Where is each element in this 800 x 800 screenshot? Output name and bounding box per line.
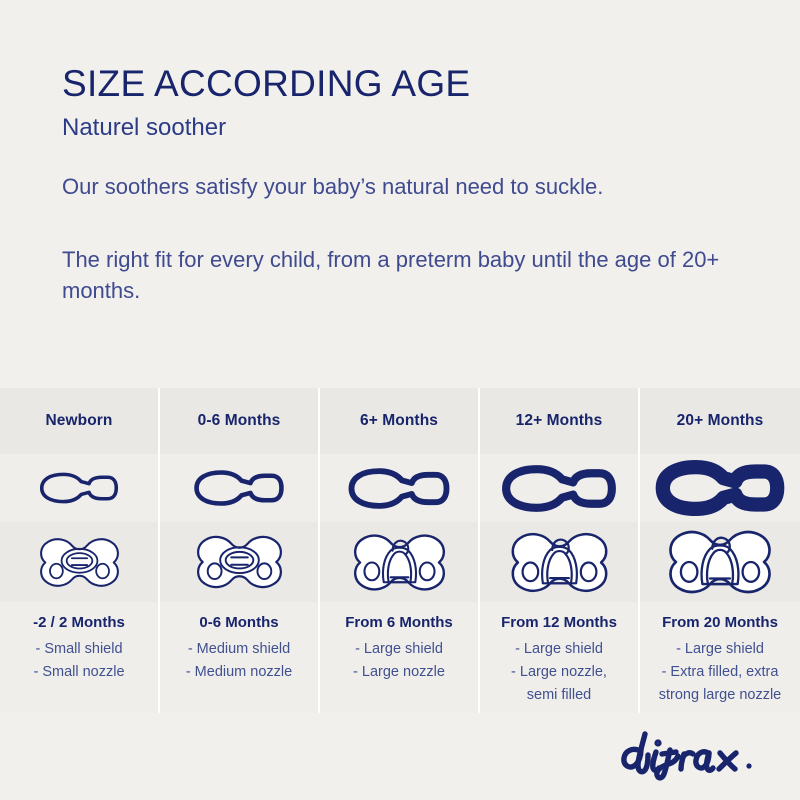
registered-mark-icon [746,763,751,768]
spec-line: semi filled [486,684,632,707]
soother-shield-icon [498,523,621,602]
spec-cell: From 6 Months- Large shield- Large nozzl… [320,602,478,713]
soother-nozzle-icon [190,464,288,512]
soother-shield-icon [29,530,130,595]
spec-line: - Large shield [326,638,472,661]
soother-shield-icon [341,525,458,600]
age-label: 0-6 Months [166,613,312,633]
size-column: Newborn -2 / 2 Months- Small shield- Sma… [0,388,160,713]
soother-shield-icon [185,527,294,597]
soother-nozzle-icon [654,456,786,520]
size-column: 6+ Months From 6 Months- Large shield- L… [320,388,480,713]
page-title: SIZE ACCORDING AGE [62,62,742,106]
spec-line: - Large nozzle, [486,661,632,684]
shield-cell [480,522,638,602]
intro-block: SIZE ACCORDING AGE Naturel soother Our s… [62,62,742,306]
soother-nozzle-icon [344,462,454,515]
nozzle-cell [480,454,638,522]
spec-line: - Extra filled, extra [646,661,794,684]
column-header: 6+ Months [320,388,478,454]
age-label: From 20 Months [646,613,794,633]
nozzle-cell [320,454,478,522]
column-header: 0-6 Months [160,388,318,454]
difrax-wordmark-icon [618,728,758,780]
column-header: 20+ Months [640,388,800,454]
spec-line: - Large shield [486,638,632,661]
spec-line: - Medium nozzle [166,661,312,684]
spec-cell: 0-6 Months- Medium shield- Medium nozzle [160,602,318,713]
age-label: -2 / 2 Months [6,613,152,633]
age-label: From 6 Months [326,613,472,633]
size-table: Newborn -2 / 2 Months- Small shield- Sma… [0,388,800,713]
spec-cell: From 20 Months- Large shield- Extra fill… [640,602,800,713]
nozzle-cell [160,454,318,522]
difrax-logo [618,728,758,780]
spec-line: - Small nozzle [6,661,152,684]
spec-line: - Large nozzle [326,661,472,684]
size-column: 20+ Months From 20 Months- Large shield-… [640,388,800,713]
page-subtitle: Naturel soother [62,113,742,143]
spec-line: strong large nozzle [646,684,794,707]
infographic-page: SIZE ACCORDING AGE Naturel soother Our s… [0,0,800,800]
shield-cell [0,522,158,602]
intro-paragraph-2: The right fit for every child, from a pr… [62,244,742,306]
size-column: 12+ Months From 12 Months- Large shield-… [480,388,640,713]
intro-paragraph-1: Our soothers satisfy your baby’s natural… [62,171,742,202]
spec-line: - Small shield [6,638,152,661]
column-header: 12+ Months [480,388,638,454]
size-column: 0-6 Months 0-6 Months- Medium shield- Me… [160,388,320,713]
nozzle-cell [0,454,158,522]
shield-cell [640,522,800,602]
soother-nozzle-icon [36,467,122,509]
shield-cell [320,522,478,602]
spec-line: - Medium shield [166,638,312,661]
age-label: From 12 Months [486,613,632,633]
spec-cell: -2 / 2 Months- Small shield- Small nozzl… [0,602,158,713]
shield-cell [160,522,318,602]
column-header: Newborn [0,388,158,454]
spec-line: - Large shield [646,638,794,661]
nozzle-cell [640,454,800,522]
soother-shield-icon [655,520,785,604]
spec-cell: From 12 Months- Large shield- Large nozz… [480,602,638,713]
soother-nozzle-icon [498,459,620,518]
